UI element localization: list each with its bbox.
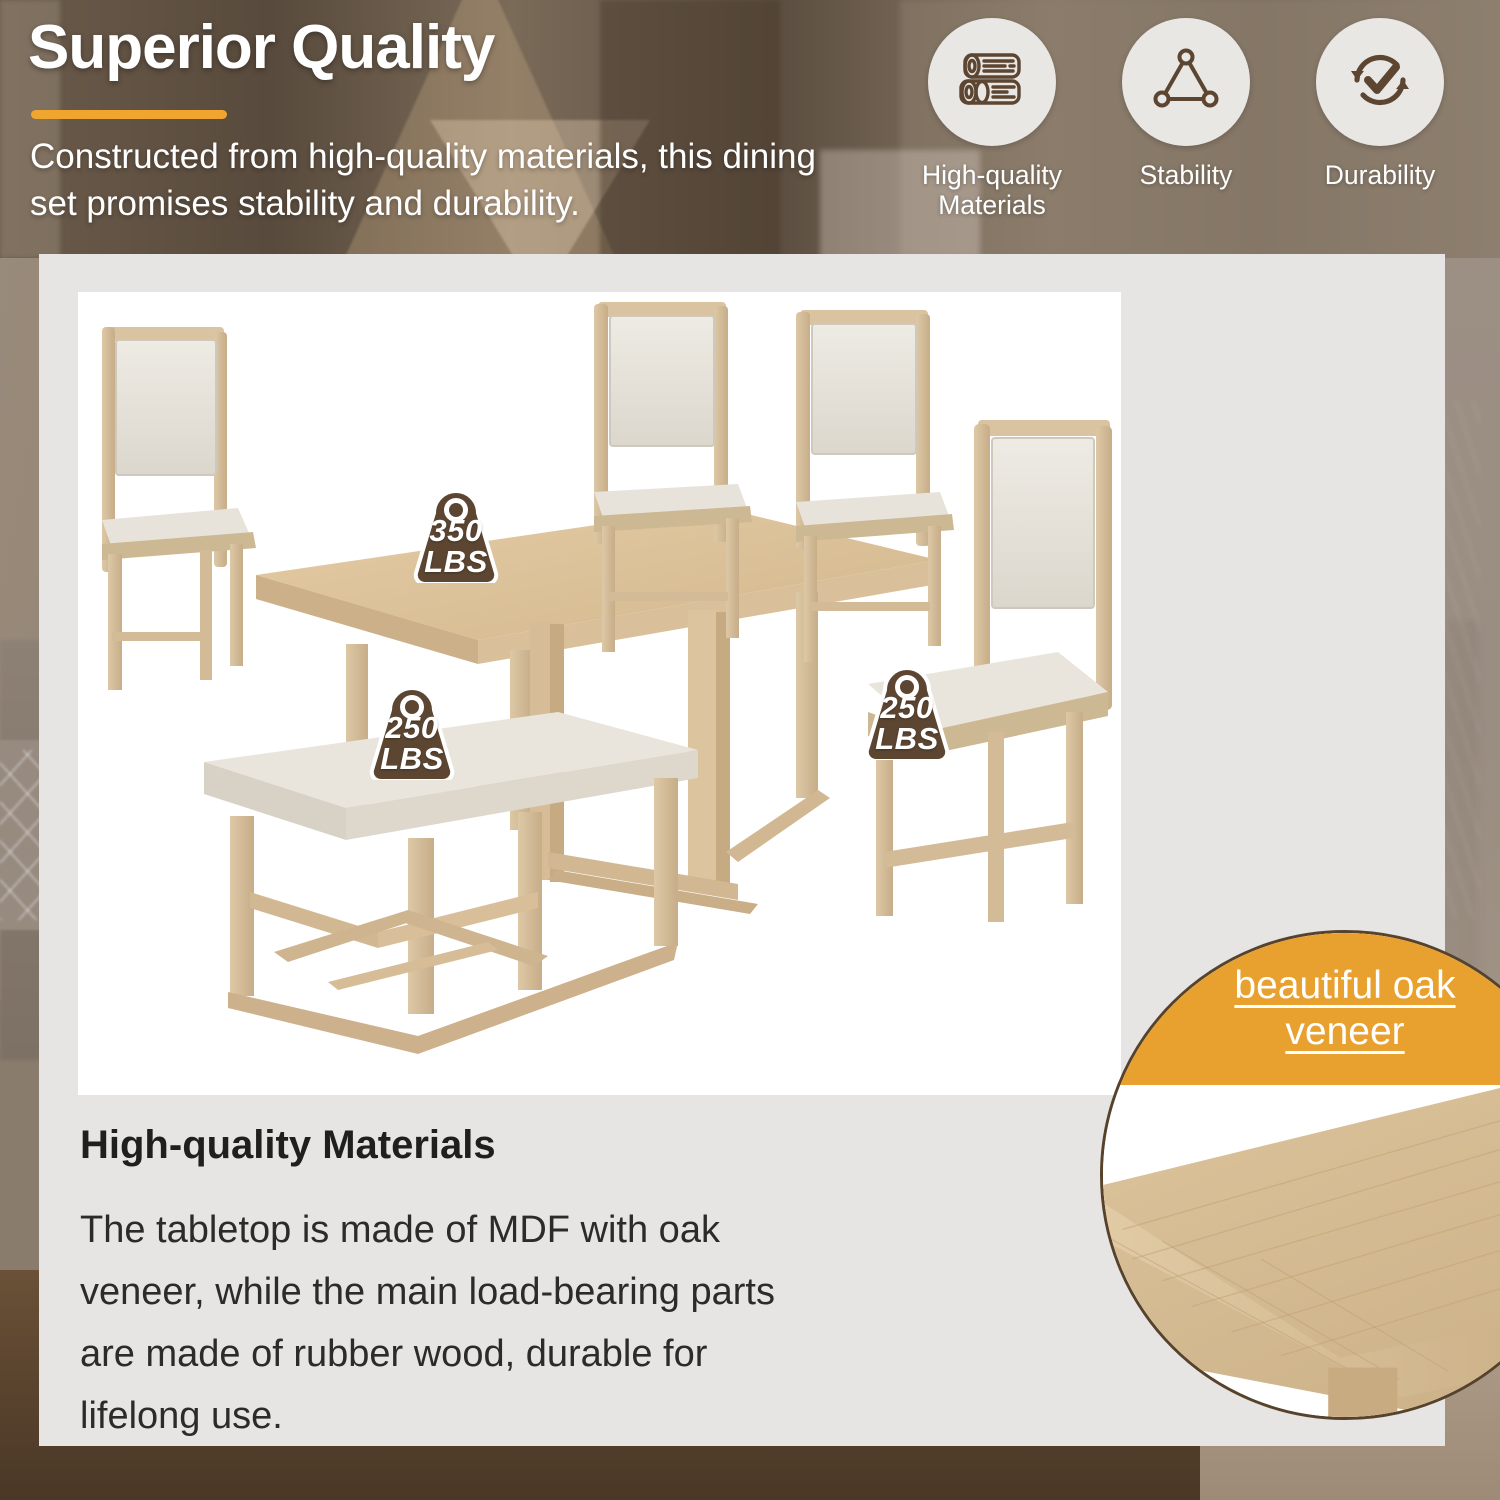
veneer-caption-line-2: veneer <box>1285 1009 1404 1055</box>
weight-badge-bench: 250 LBS <box>360 684 464 780</box>
badge-label-line-1: High-quality <box>922 160 1062 190</box>
title-underline-rule <box>31 110 227 119</box>
feature-badge-high-quality-materials: High-quality Materials <box>916 18 1068 220</box>
badge-disc <box>1316 18 1444 146</box>
chair-back-center <box>594 302 752 652</box>
dining-table <box>256 507 938 914</box>
feature-badge-label: Durability <box>1325 160 1435 190</box>
badge-label-line-1: Durability <box>1325 160 1435 190</box>
refresh-check-icon <box>1341 41 1419 124</box>
feature-badge-label: Stability <box>1140 160 1233 190</box>
triangle-icon <box>1149 43 1223 122</box>
feature-badge-row: High-quality Materials St <box>900 18 1490 243</box>
weight-unit: LBS <box>875 723 939 754</box>
badge-disc <box>1122 18 1250 146</box>
feature-badge-label: High-quality Materials <box>922 160 1062 220</box>
materials-body: The tabletop is made of MDF with oak ven… <box>80 1200 780 1448</box>
chair-back-left <box>102 327 256 690</box>
veneer-caption-banner: beautiful oak veneer <box>1103 933 1500 1085</box>
product-photo <box>78 292 1121 1095</box>
header-subtitle: Constructed from high-quality materials,… <box>30 134 860 228</box>
weight-unit: LBS <box>424 546 488 577</box>
materials-heading: High-quality Materials <box>80 1123 496 1168</box>
weight-value: 350 <box>429 515 482 546</box>
weight-value: 250 <box>385 712 438 743</box>
feature-badge-stability: Stability <box>1110 18 1262 190</box>
feature-badge-durability: Durability <box>1304 18 1456 190</box>
infographic-root: Superior Quality Constructed from high-q… <box>0 0 1500 1500</box>
dining-set-illustration <box>78 292 1121 1095</box>
weight-badge-table: 350 LBS <box>404 487 508 583</box>
logs-icon <box>953 41 1031 124</box>
badge-label-line-1: Stability <box>1140 160 1233 190</box>
oak-veneer-inset: beautiful oak veneer <box>1100 930 1500 1420</box>
chair-back-right <box>796 310 954 662</box>
veneer-caption-line-1: beautiful oak <box>1234 963 1455 1009</box>
weight-value: 250 <box>880 692 933 723</box>
weight-badge-chair: 250 LBS <box>855 664 959 760</box>
badge-label-line-2: Materials <box>938 190 1046 220</box>
weight-unit: LBS <box>380 743 444 774</box>
badge-disc <box>928 18 1056 146</box>
page-title: Superior Quality <box>28 12 494 83</box>
